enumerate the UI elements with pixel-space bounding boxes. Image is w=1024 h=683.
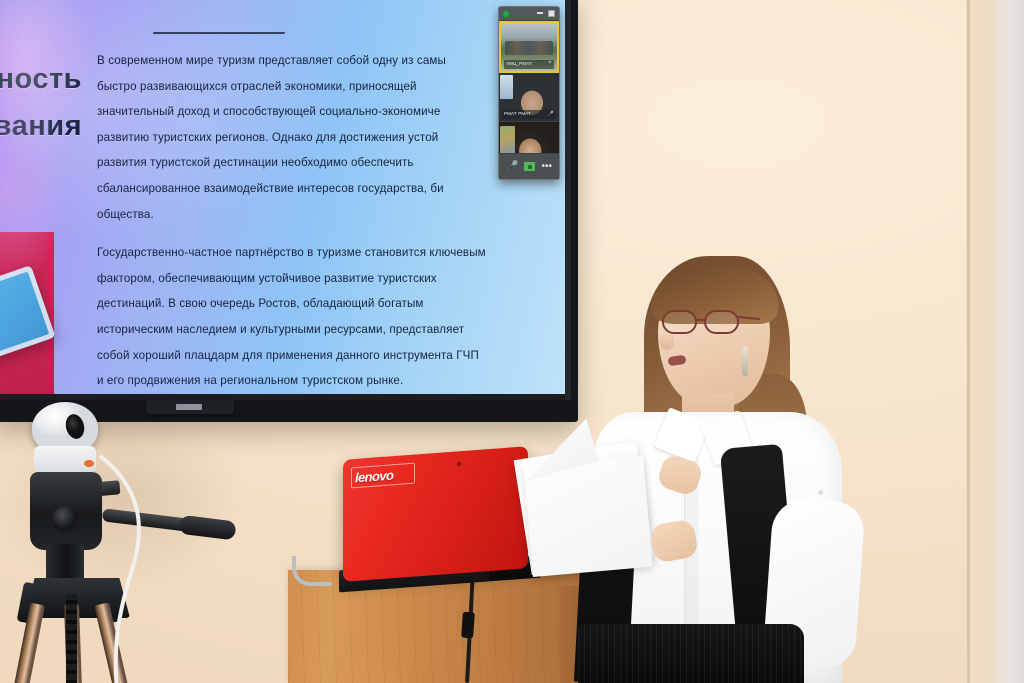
microphone-icon[interactable]: 🎤: [506, 162, 518, 172]
presenter: [556, 254, 886, 683]
slide-title: ность вания: [0, 56, 82, 150]
more-options-icon[interactable]: •••: [541, 162, 552, 172]
glasses-icon: [662, 310, 748, 334]
camera-tripod-rig: [6, 398, 246, 683]
slide-paragraph-2: Государственно-частное партнёрство в тур…: [97, 240, 517, 394]
wall-corner: [966, 0, 1024, 683]
slide-p1-line-6: сбалансированное взаимодействие интересо…: [97, 182, 444, 195]
slide-p1-line-7: общества.: [97, 208, 154, 221]
slide-p2-line-6: и его продвижения на региональном турист…: [97, 374, 403, 387]
participant-tile[interactable]: УМЦ_РМАТ 🎤: [499, 21, 559, 73]
black-skirt: [578, 624, 804, 683]
presentation-slide: ность вания В современном мире туризм пр…: [0, 0, 565, 394]
slide-p2-line-2: фактором, обеспечивающим устойчивое разв…: [97, 272, 437, 285]
slide-title-line-1: ность: [0, 56, 82, 103]
slide-p2-line-1: Государственно-частное партнёрство в тур…: [97, 246, 486, 259]
laptop[interactable]: lenovo: [339, 453, 541, 586]
shirt-button: [818, 490, 823, 495]
slide-p1-line-1: В современном мире туризм представляет с…: [97, 54, 446, 67]
glasses-right-lens: [704, 310, 739, 334]
minimize-icon[interactable]: [537, 12, 543, 14]
slide-p1-line-4: развитию туристских регионов. Однако для…: [97, 131, 438, 144]
wall-corner-edge: [967, 0, 970, 683]
maximize-icon[interactable]: [548, 10, 555, 17]
slide-p1-line-5: развития туристской дестинации необходим…: [97, 156, 414, 169]
laptop-brand-logo: lenovo: [355, 468, 393, 486]
camera-lens-icon: [63, 412, 87, 441]
mic-icon: 🎤: [546, 62, 552, 67]
tripod-tilt-knob[interactable]: [52, 506, 78, 532]
cable-inline-adapter: [461, 612, 475, 639]
participant-name: РМАТ РМАТ: [504, 112, 546, 117]
slide-p1-line-3: значительный доход и способствующей соци…: [97, 105, 440, 118]
floor-cable: [292, 556, 332, 586]
glasses-left-lens: [662, 310, 697, 334]
participant-tile[interactable]: РМАТ РМАТ 🎤: [499, 73, 559, 122]
video-call-window[interactable]: УМЦ_РМАТ 🎤 РМАТ РМАТ 🎤 Александр Ф. 🎤: [498, 6, 560, 180]
nose: [660, 332, 674, 350]
app-icon: [502, 10, 510, 18]
participant-name: УМЦ_РМАТ: [506, 62, 544, 67]
earring: [742, 346, 748, 376]
skirt-pleats: [578, 624, 804, 683]
tripod-center-column: [66, 594, 77, 683]
slide-p2-line-4: историческим наследием и культурными рес…: [97, 323, 464, 336]
slide-paragraph-1: В современном мире туризм представляет с…: [97, 48, 517, 227]
display-screen: ность вания В современном мире туризм пр…: [0, 0, 565, 394]
share-screen-icon[interactable]: [524, 162, 535, 171]
webcam-cable: [92, 450, 162, 683]
mic-icon: 🎤: [548, 112, 554, 117]
slide-p1-line-2: быстро развивающихся отраслей экономики,…: [97, 80, 417, 93]
wall-mounted-display: ность вания В современном мире туризм пр…: [0, 0, 578, 422]
slide-p2-line-3: дестинаций. В свою очередь Ростов, облад…: [97, 297, 424, 310]
participant-label: РМАТ РМАТ 🎤: [502, 110, 556, 119]
slide-rule-top: [153, 32, 285, 34]
participant-tiles: УМЦ_РМАТ 🎤 РМАТ РМАТ 🎤 Александр Ф. 🎤: [499, 21, 559, 153]
slide-body: В современном мире туризм представляет с…: [97, 32, 517, 394]
slide-title-line-2: вания: [0, 103, 82, 150]
video-call-titlebar[interactable]: [499, 7, 559, 21]
slide-p2-line-5: собой хороший плацдарм для применения да…: [97, 349, 479, 362]
video-call-controls: 🎤 •••: [499, 153, 559, 179]
participant-label: УМЦ_РМАТ 🎤: [504, 60, 554, 69]
presentation-scene: ность вания В современном мире туризм пр…: [0, 0, 1024, 683]
